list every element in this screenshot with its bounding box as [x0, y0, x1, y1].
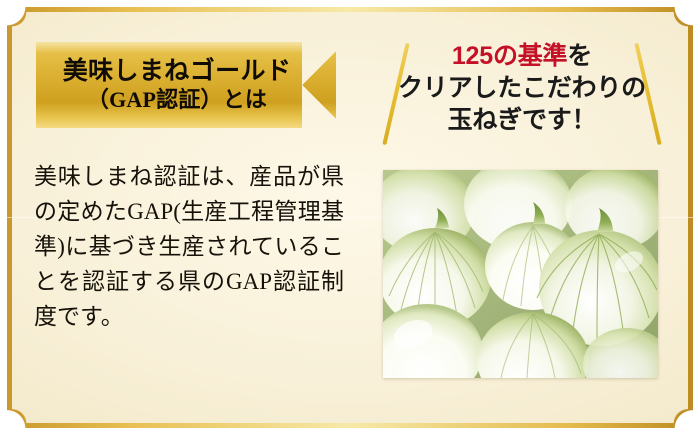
onion-photo-illustration: [383, 170, 658, 378]
headline-highlight: 125の基準: [452, 42, 568, 70]
ribbon-title-line2: （GAP認証）とは: [87, 88, 267, 112]
promo-card: 美味しまねゴールド （GAP認証）とは 美味しまね認証は、産品が県の定めたGAP…: [0, 0, 700, 435]
onion-photo: [383, 170, 658, 378]
headline-line1-suffix: を: [567, 42, 592, 70]
ribbon-banner: 美味しまねゴールド （GAP認証）とは: [36, 42, 336, 128]
ribbon-title-line1: 美味しまねゴールド: [63, 58, 292, 85]
headline-line1: 125の基準を: [372, 40, 672, 72]
description-text-block: 美味しまね認証は、産品が県の定めたGAP(生産工程管理基準)に基づき生産されてい…: [34, 160, 344, 335]
headline-block: 125の基準を クリアしたこだわりの 玉ねぎです！: [372, 40, 672, 136]
headline-line3: 玉ねぎです！: [372, 104, 672, 136]
description-paragraph: 美味しまね認証は、産品が県の定めたGAP(生産工程管理基準)に基づき生産されてい…: [34, 160, 344, 335]
headline-line2: クリアしたこだわりの: [372, 72, 672, 104]
